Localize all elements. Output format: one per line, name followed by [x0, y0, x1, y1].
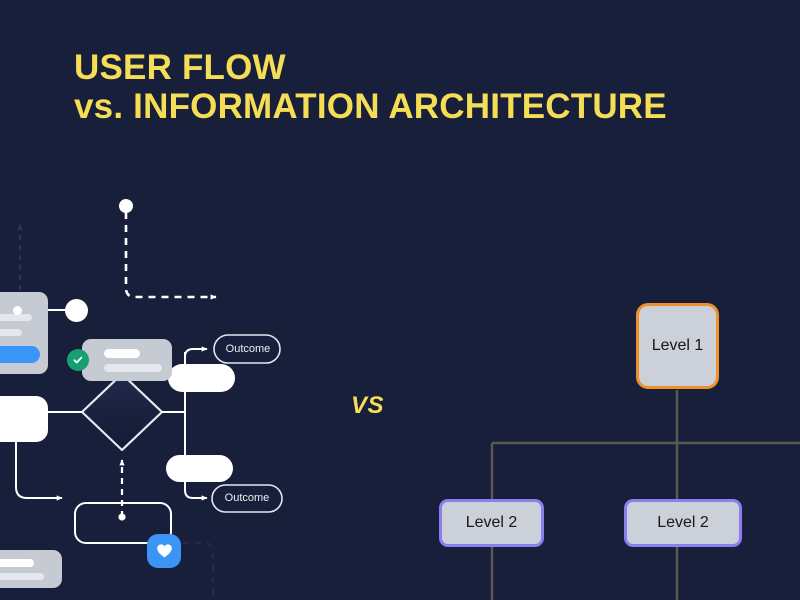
- ia-node-label: Level 2: [657, 514, 709, 532]
- slide-canvas: USER FLOW vs. INFORMATION ARCHITECTURE: [0, 0, 800, 600]
- ia-node-level-2-right[interactable]: Level 2: [624, 499, 742, 547]
- ia-node-level-2-left[interactable]: Level 2: [439, 499, 544, 547]
- ia-node-label: Level 2: [466, 514, 518, 532]
- ia-node-level-1[interactable]: Level 1: [636, 303, 719, 389]
- ia-node-label: Level 1: [652, 337, 704, 355]
